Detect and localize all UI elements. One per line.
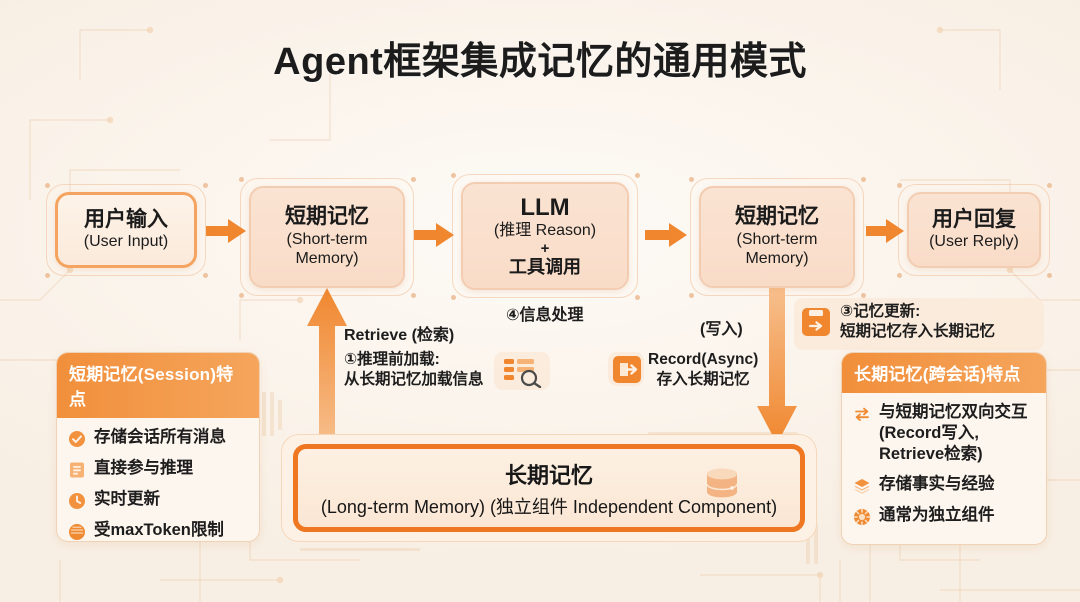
panel-long-term-body: 与短期记忆双向交互 (Record写入, Retrieve检索) 存储事实与经验… bbox=[842, 393, 1046, 536]
list-item-label: 存储事实与经验 bbox=[879, 474, 995, 495]
diagram-canvas: Agent框架集成记忆的通用模式 bbox=[0, 0, 1080, 602]
bidirectional-arrows-icon bbox=[853, 405, 871, 423]
node-llm-cn: LLM bbox=[520, 194, 569, 222]
list-item-label: 实时更新 bbox=[94, 489, 160, 510]
annotation-write-title-text: (写入) bbox=[700, 320, 743, 340]
annotation-record: Record(Async) 存入长期记忆 bbox=[648, 350, 758, 389]
node-stm-2[interactable]: 短期记忆 (Short-term Memory) bbox=[699, 186, 855, 288]
clock-circle-icon bbox=[68, 492, 86, 510]
arrow-stm1-to-llm bbox=[414, 222, 454, 248]
annotation-update-line1: ③记忆更新: bbox=[840, 302, 995, 322]
list-item-label: 受maxToken限制 bbox=[94, 520, 224, 541]
node-stm-1[interactable]: 短期记忆 (Short-term Memory) bbox=[249, 186, 405, 288]
panel-short-term-header: 短期记忆(Session)特点 bbox=[57, 353, 259, 418]
node-stm-1-en: (Short-term Memory) bbox=[287, 230, 368, 269]
layers-icon bbox=[853, 477, 871, 495]
node-user-input-en: (User Input) bbox=[84, 232, 168, 252]
node-stm-1-cn: 短期记忆 bbox=[285, 205, 369, 229]
component-circle-icon bbox=[853, 508, 871, 526]
list-item-label: 通常为独立组件 bbox=[879, 505, 995, 526]
list-item[interactable]: 存储会话所有消息 bbox=[68, 427, 249, 448]
panel-short-term-body: 存储会话所有消息 直接参与推理 实时更新 bbox=[57, 418, 259, 542]
document-list-icon bbox=[68, 461, 86, 479]
list-item[interactable]: 通常为独立组件 bbox=[853, 505, 1036, 526]
arrow-stm2-to-user-reply bbox=[866, 218, 904, 244]
node-llm-plus: + bbox=[541, 241, 550, 258]
list-item-label: 直接参与推理 bbox=[94, 458, 193, 479]
annotation-retrieve-title: Retrieve (检索) bbox=[344, 326, 554, 346]
arrow-llm-to-stm2 bbox=[645, 222, 687, 248]
list-item[interactable]: 受maxToken限制 bbox=[68, 520, 249, 541]
node-llm-tools: 工具调用 bbox=[509, 257, 581, 278]
panel-short-term-memory: 短期记忆(Session)特点 存储会话所有消息 直接参与推理 bbox=[56, 352, 260, 542]
list-item[interactable]: 与短期记忆双向交互 (Record写入, Retrieve检索) bbox=[853, 402, 1036, 464]
node-user-reply[interactable]: 用户回复 (User Reply) bbox=[907, 192, 1041, 268]
panel-long-term-header: 长期记忆(跨会话)特点 bbox=[842, 353, 1046, 393]
check-circle-icon bbox=[68, 430, 86, 448]
node-ltm-cn: 长期记忆 bbox=[505, 458, 593, 490]
node-user-input[interactable]: 用户输入 (User Input) bbox=[55, 192, 197, 268]
save-update-icon bbox=[800, 306, 832, 338]
annotation-record-line1: Record(Async) bbox=[648, 350, 758, 370]
node-llm-en: (推理 Reason) bbox=[494, 221, 596, 241]
annotation-update: ③记忆更新: 短期记忆存入长期记忆 bbox=[840, 302, 995, 341]
node-stm-2-cn: 短期记忆 bbox=[735, 205, 819, 229]
node-stm-2-en: (Short-term Memory) bbox=[737, 230, 818, 269]
list-item-label: 存储会话所有消息 bbox=[94, 427, 226, 448]
limit-circle-icon bbox=[68, 523, 86, 541]
annotation-process: ④信息处理 bbox=[506, 306, 584, 326]
node-user-reply-en: (User Reply) bbox=[929, 232, 1019, 252]
annotation-record-line2: 存入长期记忆 bbox=[648, 370, 758, 390]
annotation-write-title: (写入) bbox=[700, 320, 743, 340]
node-llm[interactable]: LLM (推理 Reason) + 工具调用 bbox=[461, 182, 629, 290]
node-user-reply-cn: 用户回复 bbox=[932, 208, 1016, 232]
annotation-update-line2: 短期记忆存入长期记忆 bbox=[840, 322, 995, 342]
database-search-icon bbox=[502, 356, 542, 388]
panel-long-term-memory: 长期记忆(跨会话)特点 与短期记忆双向交互 (Record写入, Retriev… bbox=[841, 352, 1047, 545]
list-item[interactable]: 实时更新 bbox=[68, 489, 249, 510]
arrow-record-down bbox=[756, 288, 798, 446]
list-item[interactable]: 直接参与推理 bbox=[68, 458, 249, 479]
node-long-term-memory[interactable]: 长期记忆 (Long-term Memory) (独立组件 Independen… bbox=[293, 444, 805, 532]
annotation-process-text: ④信息处理 bbox=[506, 306, 584, 326]
node-user-input-cn: 用户输入 bbox=[84, 208, 168, 232]
page-title: Agent框架集成记忆的通用模式 bbox=[0, 30, 1080, 85]
arrow-retrieve-up bbox=[306, 286, 348, 446]
arrow-user-input-to-stm1 bbox=[206, 218, 246, 244]
list-item[interactable]: 存储事实与经验 bbox=[853, 474, 1036, 495]
export-to-storage-icon bbox=[613, 356, 641, 383]
list-item-label: 与短期记忆双向交互 (Record写入, Retrieve检索) bbox=[879, 402, 1028, 464]
database-cylinder-icon bbox=[702, 465, 742, 505]
